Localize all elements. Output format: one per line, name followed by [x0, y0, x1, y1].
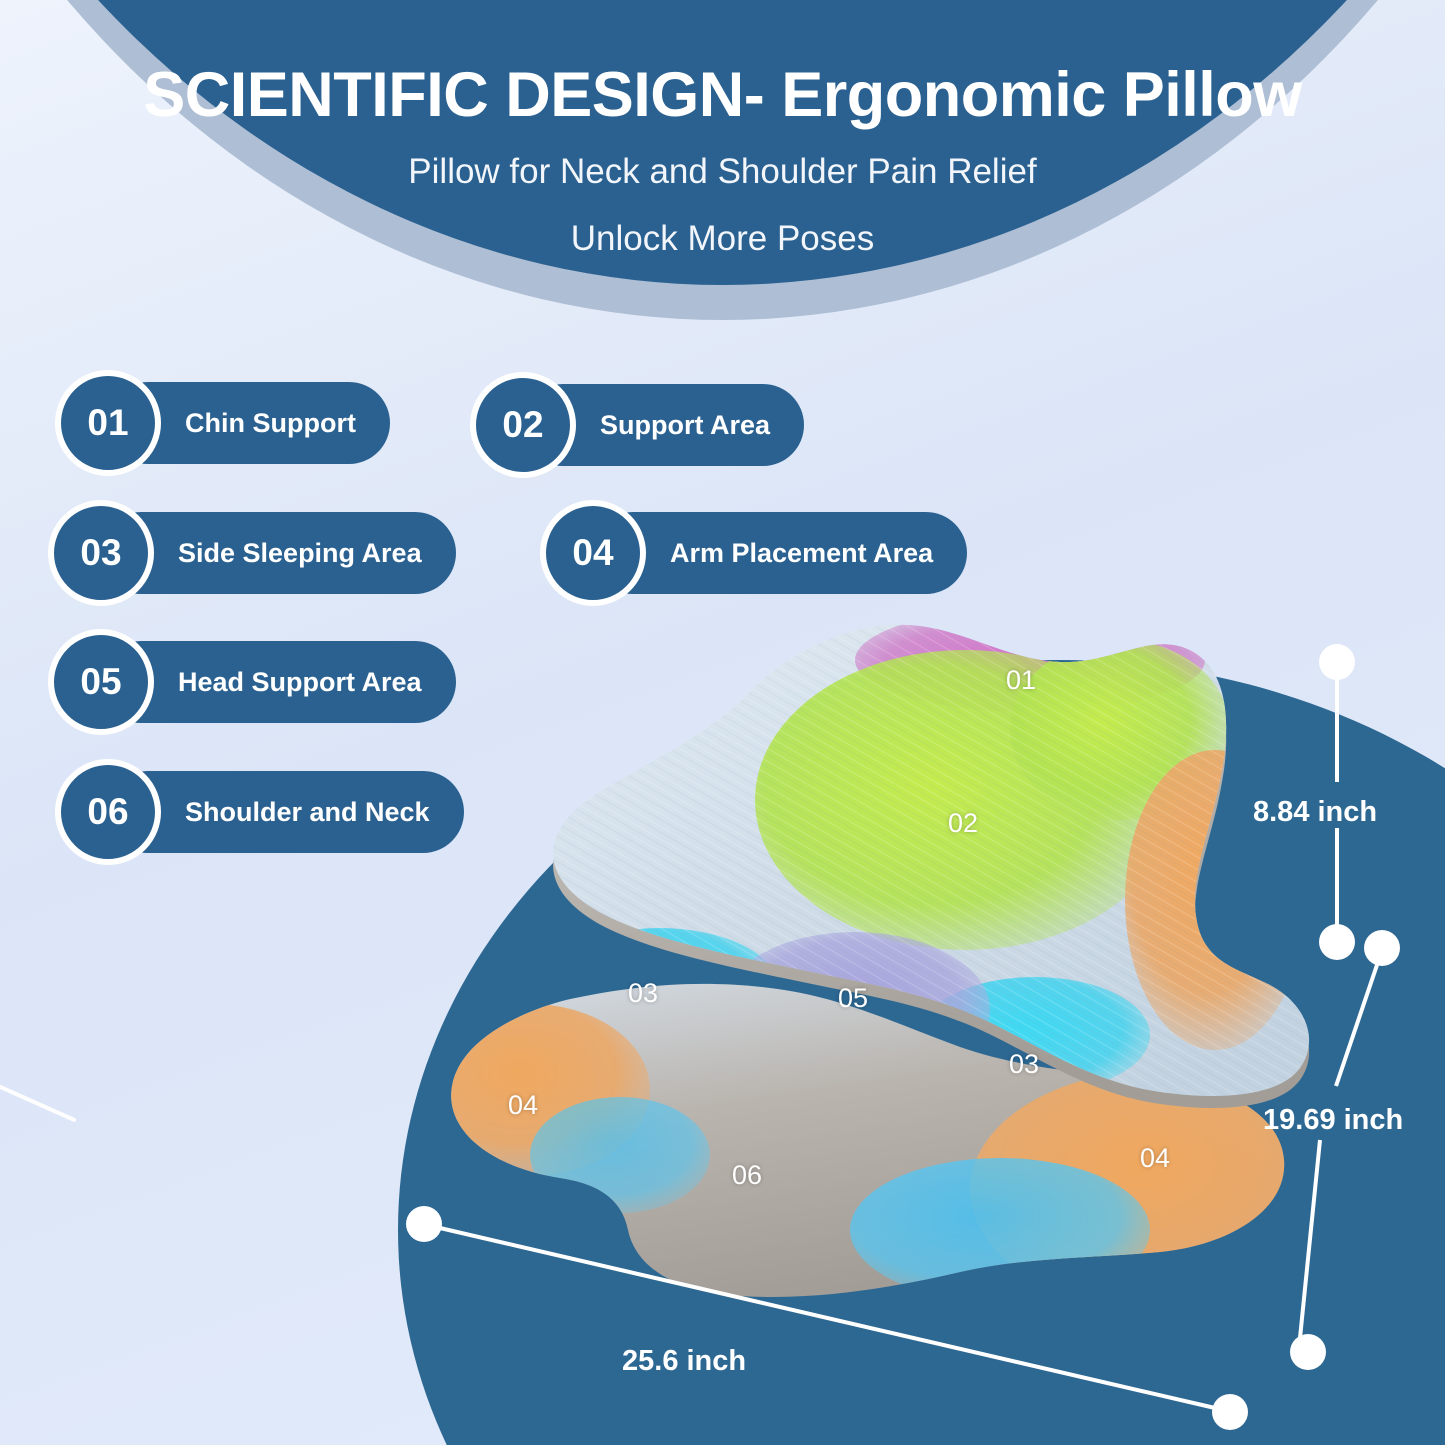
feature-number-06: 06	[55, 759, 161, 865]
zone-label-04-right: 04	[1140, 1143, 1170, 1174]
feature-label-04: Arm Placement Area	[592, 512, 967, 594]
zone-label-03-left: 03	[628, 978, 658, 1009]
subtitle-line-2: Unlock More Poses	[0, 195, 1445, 262]
dimension-label-depth: 19.69 inch	[1263, 1104, 1403, 1137]
dimension-line-depth-upper	[1336, 962, 1378, 1086]
zone-label-01: 01	[1006, 665, 1036, 696]
header-text-block: SCIENTIFIC DESIGN- Ergonomic Pillow Pill…	[0, 0, 1445, 263]
feature-number-03: 03	[48, 500, 154, 606]
feature-number-02: 02	[470, 372, 576, 478]
infographic-page: SCIENTIFIC DESIGN- Ergonomic Pillow Pill…	[0, 0, 1445, 1445]
feature-number-04: 04	[540, 500, 646, 606]
zone-label-02: 02	[948, 808, 978, 839]
zone-label-06: 06	[732, 1160, 762, 1191]
page-title: SCIENTIFIC DESIGN- Ergonomic Pillow	[0, 0, 1445, 128]
zone-label-05: 05	[838, 983, 868, 1014]
dimension-label-width: 25.6 inch	[622, 1345, 746, 1378]
dimension-label-height: 8.84 inch	[1253, 796, 1377, 829]
subtitle-line-1: Pillow for Neck and Shoulder Pain Relief	[0, 128, 1445, 195]
feature-number-01: 01	[55, 370, 161, 476]
dimension-line-depth-lower	[1300, 1140, 1320, 1338]
feature-number-05: 05	[48, 629, 154, 735]
zone-label-03-right: 03	[1009, 1049, 1039, 1080]
zone-label-04-left: 04	[508, 1090, 538, 1121]
